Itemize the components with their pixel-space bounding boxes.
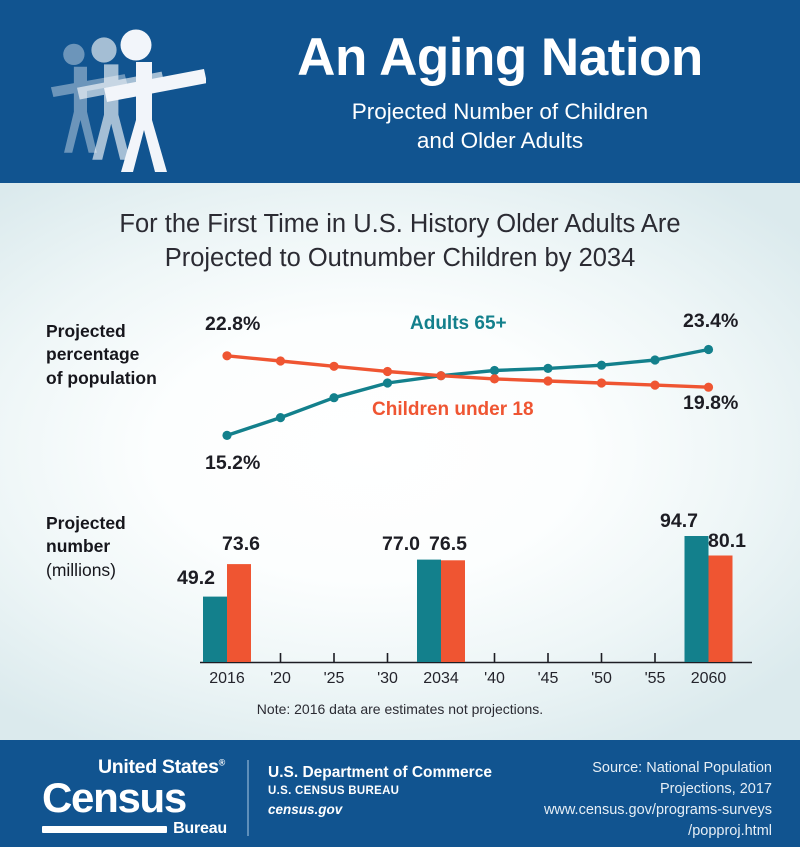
line-annotation-children-end: 19.8% — [683, 392, 738, 415]
bar-value-2034-children: 76.5 — [429, 533, 467, 556]
headline-line2: Projected to Outnumber Children by 2034 — [50, 241, 750, 275]
x-axis-tick-20: '20 — [251, 670, 311, 688]
header-title-group: An Aging Nation Projected Number of Chil… — [210, 30, 790, 155]
line-annotation-adults-start: 15.2% — [205, 452, 260, 475]
source-citation: Source: National Population Projections,… — [442, 758, 772, 842]
source-line3[interactable]: www.census.gov/programs-surveys — [442, 800, 772, 821]
bar-value-2016-children: 73.6 — [222, 533, 260, 556]
x-axis-tick-2016: 2016 — [197, 670, 257, 688]
bar-value-2016-adults: 49.2 — [177, 567, 215, 590]
percent-section-label: Projected percentage of population — [46, 320, 221, 390]
header-banner: An Aging Nation Projected Number of Chil… — [0, 0, 800, 183]
footer-divider — [247, 760, 249, 836]
legend-label-children-under-18: Children under 18 — [372, 399, 534, 421]
three-walking-people-icon — [46, 22, 206, 174]
page-subtitle: Projected Number of Children and Older A… — [210, 97, 790, 156]
line-annotation-adults-end: 23.4% — [683, 310, 738, 333]
source-line4[interactable]: /popproj.html — [442, 821, 772, 842]
x-axis-tick-50: '50 — [572, 670, 632, 688]
percent-label-line1: Projected — [46, 320, 221, 343]
bar-value-2034-adults: 77.0 — [382, 533, 420, 556]
source-line1: Source: National Population — [442, 758, 772, 779]
page-subtitle-line1: Projected Number of Children — [210, 97, 790, 126]
x-axis-tick-2060: 2060 — [679, 670, 739, 688]
x-axis-tick-30: '30 — [358, 670, 418, 688]
chart-note: Note: 2016 data are estimates not projec… — [0, 701, 800, 717]
logo-bureau-row: Bureau — [42, 820, 227, 838]
bar-value-2060-adults: 94.7 — [660, 510, 698, 533]
headline: For the First Time in U.S. History Older… — [50, 207, 750, 276]
page-title: An Aging Nation — [210, 30, 790, 86]
x-axis-tick-55: '55 — [625, 670, 685, 688]
x-axis-tick-45: '45 — [518, 670, 578, 688]
source-line2: Projections, 2017 — [442, 779, 772, 800]
census-bureau-logo: United States® Census Bureau — [42, 758, 227, 838]
bar-value-2060-children: 80.1 — [708, 530, 746, 553]
infographic-poster: An Aging Nation Projected Number of Chil… — [0, 0, 800, 847]
x-axis-tick-25: '25 — [304, 670, 364, 688]
percent-label-line3: of population — [46, 367, 221, 390]
percent-label-line2: percentage — [46, 343, 221, 366]
line-annotation-children-start: 22.8% — [205, 313, 260, 336]
x-axis-tick-40: '40 — [465, 670, 525, 688]
logo-bureau-text: Bureau — [173, 820, 227, 838]
headline-line1: For the First Time in U.S. History Older… — [50, 207, 750, 241]
page-subtitle-line2: and Older Adults — [210, 126, 790, 155]
registered-trademark-icon: ® — [219, 758, 225, 768]
logo-census-wordmark: Census — [42, 779, 227, 818]
logo-rule-bar — [42, 826, 167, 833]
x-axis-tick-2034: 2034 — [411, 670, 471, 688]
legend-label-adults-65-plus: Adults 65+ — [410, 313, 507, 335]
